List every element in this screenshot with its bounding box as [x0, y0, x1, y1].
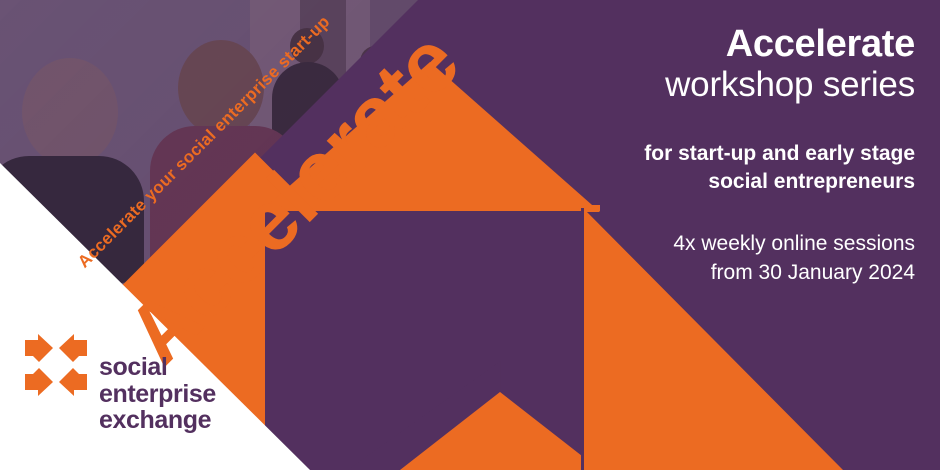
logo-line-2: enterprise	[99, 381, 216, 408]
copy-block: Accelerate workshop series for start-up …	[445, 24, 915, 288]
headline-line-2: workshop series	[445, 65, 915, 104]
accelerate-promo-banner: Accelerate your social enterprise start-…	[0, 0, 940, 470]
four-inward-arrows-icon	[25, 334, 87, 396]
schedule-line-2: from 30 January 2024	[445, 259, 915, 288]
audience-line-1: for start-up and early stage	[445, 140, 915, 168]
schedule-line-1: 4x weekly online sessions	[445, 230, 915, 259]
logo-wordmark: social enterprise exchange	[99, 354, 216, 434]
logo-line-3: exchange	[99, 407, 216, 434]
headline-line-1: Accelerate	[445, 24, 915, 65]
audience-line-2: social entrepreneurs	[445, 168, 915, 196]
logo-line-1: social	[99, 354, 216, 381]
social-enterprise-exchange-logo: social enterprise exchange	[25, 330, 216, 434]
